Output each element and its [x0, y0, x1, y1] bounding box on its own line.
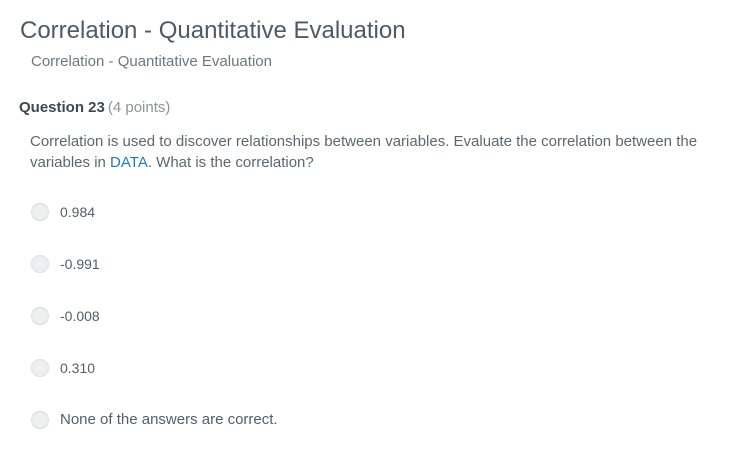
answer-options-list: 0.984 -0.991 -0.008 0.310 None of the an…	[31, 198, 631, 434]
answer-option-label: -0.991	[60, 254, 100, 274]
quiz-subtitle: Correlation - Quantitative Evaluation	[31, 52, 272, 72]
answer-option-1[interactable]: 0.984	[31, 198, 631, 226]
data-link[interactable]: DATA	[110, 154, 148, 171]
radio-button-icon[interactable]	[31, 203, 49, 221]
radio-button-icon[interactable]	[31, 307, 49, 325]
radio-button-icon[interactable]	[31, 411, 49, 429]
answer-option-4[interactable]: 0.310	[31, 354, 631, 382]
question-text: Correlation is used to discover relation…	[30, 131, 706, 173]
question-text-part-2: . What is the correlation?	[148, 154, 314, 171]
answer-option-3[interactable]: -0.008	[31, 302, 631, 330]
page-title: Correlation - Quantitative Evaluation	[20, 16, 406, 46]
question-number-label: Question 23	[19, 99, 105, 116]
radio-button-icon[interactable]	[31, 255, 49, 273]
answer-option-5[interactable]: None of the answers are correct.	[31, 406, 631, 434]
question-header: Question 23(4 points)	[19, 98, 170, 118]
answer-option-label: 0.984	[60, 202, 95, 222]
answer-option-2[interactable]: -0.991	[31, 250, 631, 278]
question-points-label: (4 points)	[108, 99, 171, 116]
answer-option-label: None of the answers are correct.	[60, 410, 278, 430]
quiz-question-page: Correlation - Quantitative Evaluation Co…	[0, 0, 739, 475]
answer-option-label: -0.008	[60, 306, 100, 326]
radio-button-icon[interactable]	[31, 359, 49, 377]
answer-option-label: 0.310	[60, 358, 95, 378]
